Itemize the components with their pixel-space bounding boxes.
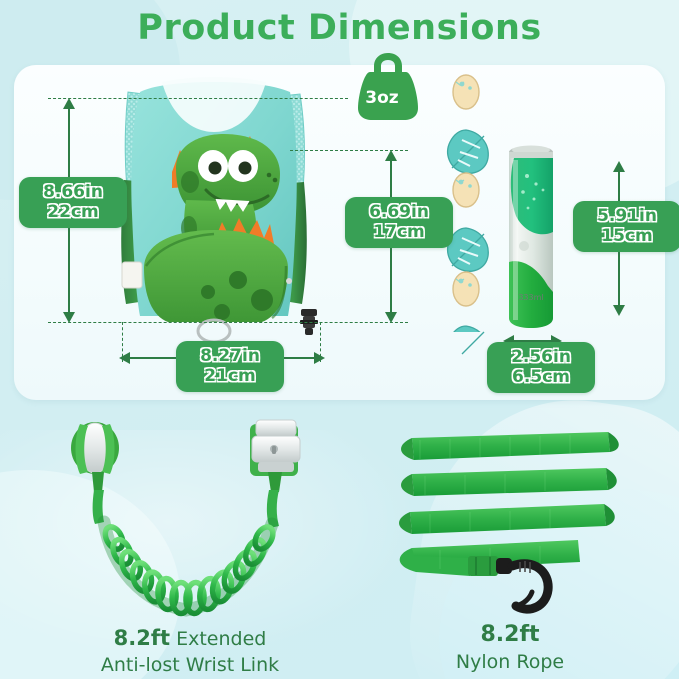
badge-backpack-height: 8.66in 22cm [19,177,127,228]
arrow-up-icon [385,150,397,161]
dinosaur-egg-icon [453,272,479,306]
badge-cm: 15cm [582,227,672,246]
arrow-down-icon [385,312,397,323]
nylon-rope-name: Nylon Rope [370,650,650,676]
badge-inches: 8.66in [28,183,118,202]
guide-line-bottom [48,322,408,323]
caption-wrist-link: 8.2ft Extended Anti-lost Wrist Link [40,624,340,678]
anti-lost-wrist-link-illustration [71,420,300,614]
wrist-link-suffix: Extended [170,628,266,650]
decorative-icon-column [448,75,489,369]
backpack-illustration: 333ml [0,0,679,679]
caption-nylon-rope: 8.2ft Nylon Rope [370,620,650,675]
arrow-up-icon [63,98,75,109]
badge-can-width: 2.56in 6.5cm [487,342,595,393]
arrow-up-icon [613,161,625,172]
monstera-leaf-icon [448,228,489,271]
monstera-leaf-icon [448,326,489,369]
badge-cm: 6.5cm [496,368,586,387]
weight-value: 3oz [356,88,408,108]
dinosaur-egg-icon [453,75,479,109]
can-volume-label: 333ml [518,293,543,302]
weight-tag: 3oz [356,62,408,120]
badge-cm: 21cm [185,367,275,386]
badge-cm: 22cm [28,203,118,222]
nylon-rope-illustration [399,432,619,609]
nylon-rope-length: 8.2ft [370,620,650,650]
infographic-stage: Product Dimensions [0,0,679,679]
badge-backpack-width: 8.27in 21cm [176,341,284,392]
badge-can-height: 5.91in 15cm [573,201,679,252]
guide-line-top [48,98,348,99]
monstera-leaf-icon [448,130,489,173]
soda-can: 333ml [509,146,553,329]
badge-inches: 5.91in [582,207,672,226]
badge-backpack-body-height: 6.69in 17cm [345,197,453,248]
arrow-down-icon [63,312,75,323]
dinosaur-egg-icon [453,173,479,207]
arrow-down-icon [613,305,625,316]
badge-inches: 2.56in [496,348,586,367]
arrow-left-icon [119,352,130,364]
badge-inches: 8.27in [185,347,275,366]
wrist-link-length: 8.2ft [114,626,170,650]
arrow-right-icon [314,352,325,364]
badge-cm: 17cm [354,223,444,242]
badge-inches: 6.69in [354,203,444,222]
wrist-link-name: Anti-lost Wrist Link [40,653,340,679]
